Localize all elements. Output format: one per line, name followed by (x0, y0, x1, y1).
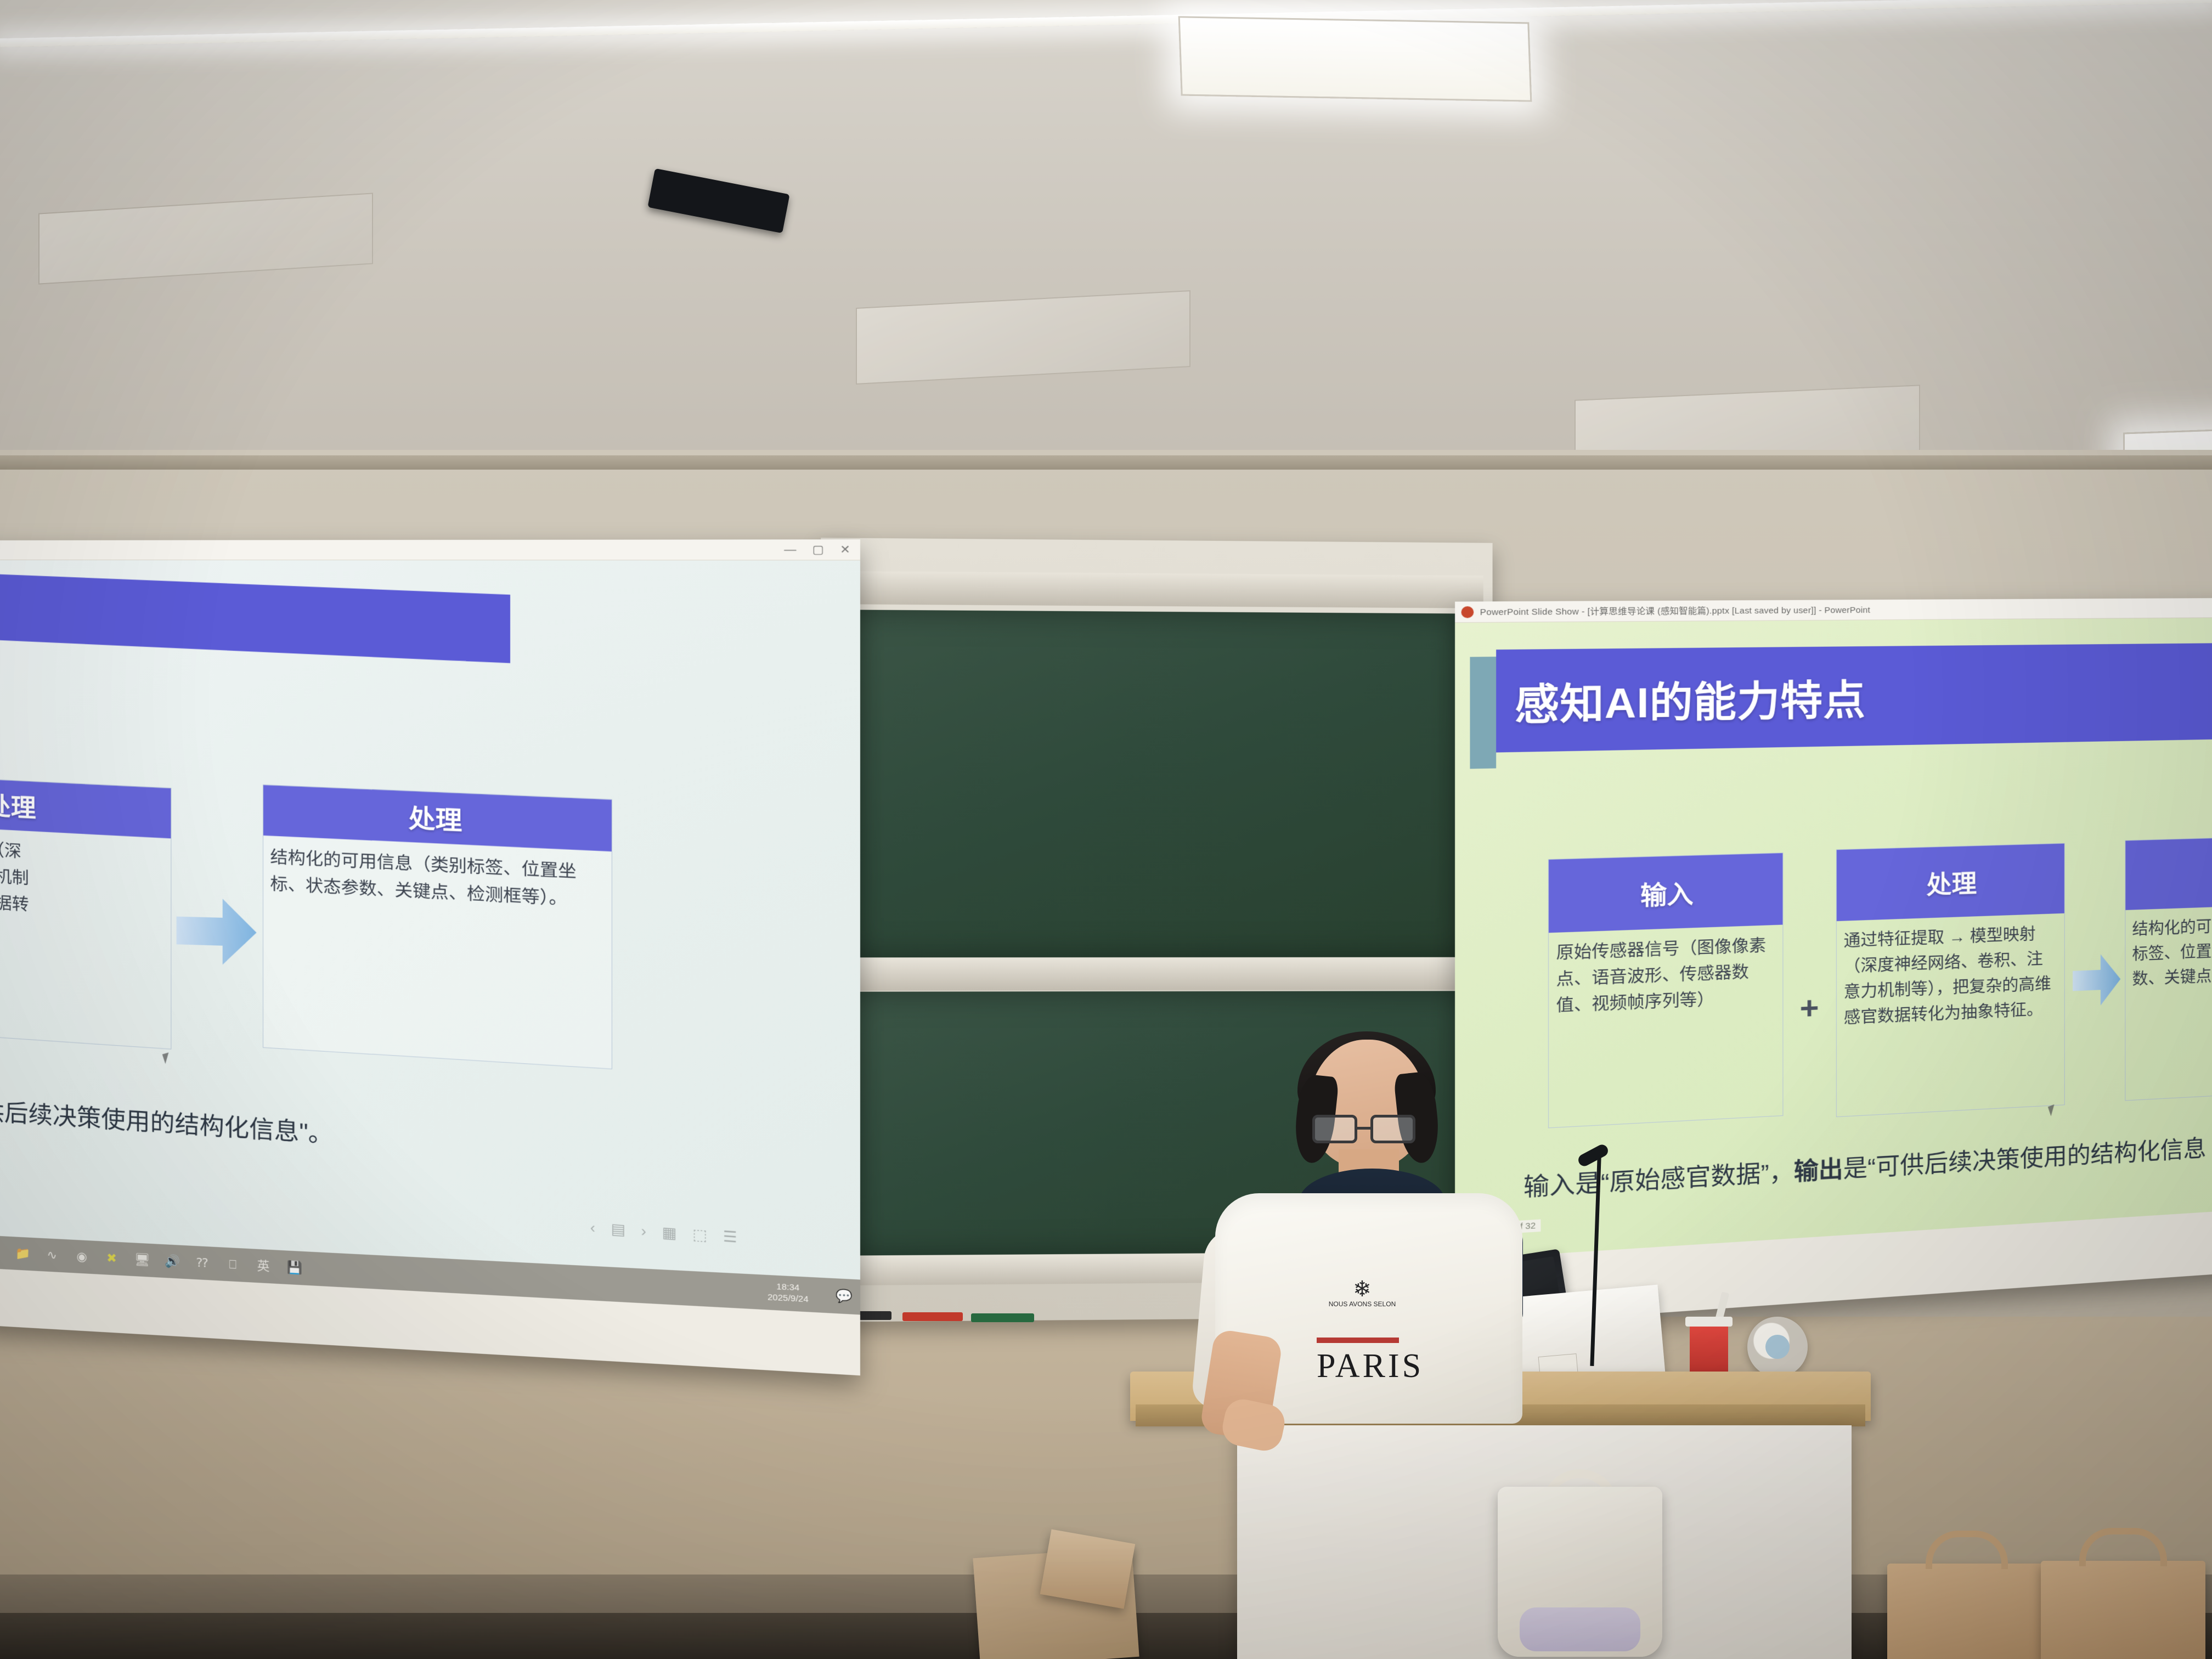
right-slide-column-1: 输入 原始传感器信号（图像像素点、语音波形、传感器数值、视频帧序列等） (1548, 853, 1784, 1128)
next-slide-icon[interactable]: › (641, 1222, 646, 1240)
all-slides-icon[interactable]: ▦ (662, 1223, 677, 1242)
arrow-right-icon (2072, 951, 2121, 1009)
powerpoint-icon (1461, 606, 1474, 618)
shirt-subtext: NOUS AVONS SELON (1327, 1300, 1398, 1308)
tote-bag-icon (2041, 1561, 2205, 1659)
pen-tool-icon[interactable]: ▤ (611, 1220, 625, 1239)
right-projection-screen: PowerPoint Slide Show - [计算思维导论课 (感知智能篇)… (1455, 598, 2212, 1327)
minimize-icon[interactable]: — (784, 544, 796, 555)
bluetooth-icon[interactable]: ⁇ (195, 1255, 210, 1271)
mouse-cursor (162, 1051, 176, 1064)
right-slide-bottom-note: 输入是“原始感官数据”，输出是“可供后续决策使用的结构化信息 (1523, 1130, 2207, 1203)
left-slide-column-2: 处理 结构化的可用信息（类别标签、位置坐标、状态参数、关键点、检测框等）。 (263, 785, 612, 1069)
blackboard-top-rail (837, 571, 1483, 608)
laurel-crest-icon: ❄ NOUS AVONS SELON (1327, 1278, 1398, 1330)
tote-bag-icon (1887, 1564, 2046, 1659)
right-slide-title-band: 感知AI的能力特点 (1496, 643, 2212, 752)
zoom-icon[interactable]: ⬚ (692, 1226, 707, 1245)
glasses-right-lens (1370, 1115, 1415, 1143)
left-slide-column-1: 处理 提取 → 模型映射（深 络、卷积、注意力机制 复杂的高维感官数据转 特征。 (0, 772, 171, 1049)
folder-icon[interactable]: 📁 (15, 1246, 30, 1261)
cup-lid (1685, 1317, 1733, 1327)
display-icon[interactable]: 🖥 (134, 1252, 149, 1268)
tape-core (1765, 1335, 1790, 1359)
browser-icon[interactable]: ◉ (75, 1249, 89, 1265)
left-column-1-header: 处理 (0, 773, 171, 838)
left-window-controls[interactable]: — ▢ ✕ (784, 544, 854, 555)
wall-rail (0, 455, 2212, 470)
close-icon[interactable]: ✕ (840, 544, 850, 555)
glasses-left-lens (1312, 1115, 1357, 1143)
right-column-2-body: 通过特征提取 → 模型映射（深度神经网络、卷积、注意力机制等），把复杂的高维感官… (1837, 913, 2064, 1040)
right-slide-column-3: 处 结构化的可 标签、位置 数、关键点 (2125, 837, 2212, 1101)
app-icon[interactable]: ✖ (104, 1251, 119, 1266)
left-slide-canvas: 处理 提取 → 模型映射（深 络、卷积、注意力机制 复杂的高维感官数据转 特征。… (0, 560, 860, 1314)
title-accent-tab (1470, 657, 1496, 769)
right-window-title: PowerPoint Slide Show - [计算思维导论课 (感知智能篇)… (1480, 603, 1870, 618)
glasses-bridge (1357, 1127, 1372, 1130)
left-slide-bottom-note: 可供后续决策使用的结构化信息"。 (0, 1090, 334, 1150)
chalk-eraser (971, 1313, 1034, 1322)
bag-pattern (1520, 1607, 1640, 1651)
notification-icon[interactable]: 💬 (836, 1288, 851, 1304)
more-options-icon[interactable]: ☰ (723, 1228, 737, 1246)
plus-symbol: + (1800, 989, 1819, 1026)
left-window-titlebar: — ▢ ✕ (0, 539, 860, 560)
left-projection-screen: — ▢ ✕ 处理 提取 → 模型映射（深 络、卷积、注意力机制 复杂的高维感官数… (0, 539, 860, 1375)
ceiling-light-panel (1178, 16, 1532, 101)
blackboard-mid-rail (837, 957, 1483, 991)
right-column-1-body: 原始传感器信号（图像像素点、语音波形、传感器数值、视频帧序列等） (1549, 925, 1782, 1028)
bottom-note-part-1: 输入是“原始感官数据”， (1523, 1158, 1794, 1201)
ime-english-icon[interactable]: 英 (256, 1259, 271, 1274)
left-slide-title-band (0, 571, 510, 663)
left-column-1-body: 提取 → 模型映射（深 络、卷积、注意力机制 复杂的高维感官数据转 特征。 (0, 822, 171, 961)
save-icon[interactable]: 💾 (287, 1260, 302, 1276)
maximize-icon[interactable]: ▢ (812, 544, 824, 555)
arrow-right-icon (174, 894, 259, 969)
right-column-3-body: 结构化的可 标签、位置 数、关键点 (2125, 906, 2212, 1001)
clock-date: 2025/9/24 (768, 1293, 808, 1306)
prev-slide-icon[interactable]: ‹ (590, 1218, 595, 1237)
right-column-2-header: 处理 (1837, 844, 2064, 921)
network-icon[interactable]: ∿ (45, 1248, 59, 1262)
bottom-note-part-3: 是“可供后续决策使用的结构化信息 (1843, 1135, 2207, 1182)
crest-glyph: ❄ (1327, 1278, 1398, 1300)
right-slide-column-2: 处理 通过特征提取 → 模型映射（深度神经网络、卷积、注意力机制等），把复杂的高… (1836, 843, 2065, 1118)
blackboard-panel-upper (844, 610, 1475, 957)
lecture-hall-photo: — ▢ ✕ 处理 提取 → 模型映射（深 络、卷积、注意力机制 复杂的高维感官数… (0, 0, 2212, 1659)
taskbar-clock[interactable]: 18:34 2025/9/24 (768, 1282, 818, 1306)
right-slide-canvas: 感知AI的能力特点 输入 原始传感器信号（图像像素点、语音波形、传感器数值、视频… (1455, 618, 2212, 1260)
shirt-red-stripe (1317, 1338, 1399, 1343)
keyboard-icon[interactable]: ⎕ (225, 1257, 240, 1272)
ppt-presentation-controls[interactable]: ‹ ▤ › ▦ ⬚ ☰ (590, 1218, 737, 1246)
right-column-1-header: 输入 (1549, 853, 1782, 933)
bottom-note-emphasis: 输出 (1794, 1155, 1843, 1185)
chalk-eraser (902, 1312, 963, 1321)
right-column-3-header: 处 (2125, 837, 2212, 910)
windows-taskbar[interactable]: ⎅ 📁 ∿ ◉ ✖ 🖥 🔊 ⁇ ⎕ 英 💾 18:34 2025/9/24 💬 (0, 1235, 860, 1314)
right-slide-title: 感知AI的能力特点 (1515, 666, 1866, 731)
volume-icon[interactable]: 🔊 (165, 1254, 179, 1269)
shirt-text: PARIS (1317, 1347, 1421, 1386)
